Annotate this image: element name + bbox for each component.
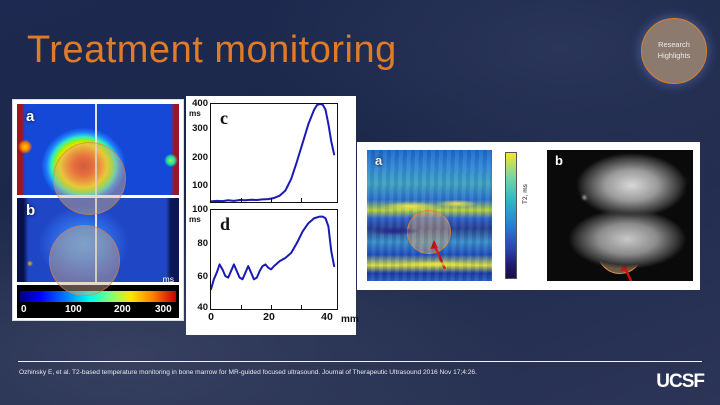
plot-d-x-unit: mm — [341, 314, 359, 325]
plot-d-xtick-0: 0 — [208, 311, 214, 323]
plot-d-ytick-40: 40 — [197, 302, 208, 313]
right-panel-label-a: a — [375, 153, 382, 168]
figure-thermometry-maps: a b ms 0 100 200 300 — [12, 99, 184, 321]
plot-c-ytick-400: 400 — [192, 98, 208, 109]
plot-d-xtick-20: 20 — [263, 311, 275, 323]
plot-c-ytick-200: 200 — [192, 152, 208, 163]
plot-d-xtickmark-2 — [271, 305, 272, 309]
mri-grayscale-panel-b: b — [547, 150, 693, 281]
colorbar-tick-0: 0 — [21, 304, 27, 315]
highlight-circle-a — [53, 142, 126, 215]
t2-vertical-colorbar — [505, 152, 517, 279]
ucsf-logo: UCSF — [656, 371, 704, 393]
plot-d-xtickmark-3 — [301, 305, 302, 309]
page-title: Treatment monitoring — [27, 29, 397, 72]
plot-label-d: d — [220, 214, 230, 235]
colorbar-tick-200: 200 — [114, 304, 131, 315]
slide-canvas: Treatment monitoring Research Highlights… — [0, 0, 720, 405]
plot-d-xtickmark-1 — [241, 305, 242, 309]
highlight-circle-b — [49, 225, 120, 296]
plot-c-xtickmark-1 — [241, 198, 242, 202]
colorbar-tick-100: 100 — [65, 304, 82, 315]
t2-map-panel-a: a — [367, 150, 492, 281]
plot-c-xtickmark-2 — [271, 198, 272, 202]
right-panel-label-b: b — [555, 153, 563, 168]
panel-label-b: b — [26, 202, 35, 219]
badge-line-1: Research — [658, 40, 690, 51]
colorbar-unit-label: ms — [163, 274, 174, 284]
footer-divider — [18, 361, 702, 362]
plot-c-y-unit: ms — [189, 109, 201, 118]
figure-t2-map-and-mri: a T2, ms b — [357, 142, 700, 290]
plot-d-xtick-40: 40 — [321, 311, 333, 323]
plot-d: d 100 80 60 40 ms 0 20 40 mm — [210, 209, 338, 310]
plot-d-y-unit: ms — [189, 215, 201, 224]
highlight-circle-right-a — [407, 210, 451, 254]
plot-c-ytick-300: 300 — [192, 123, 208, 134]
plot-c-curve — [211, 104, 337, 202]
plot-c-ytick-100: 100 — [192, 180, 208, 191]
badge-line-2: Highlights — [658, 51, 690, 62]
t2-colorbar-label: T2, ms — [522, 184, 529, 204]
figure-profile-plots: c 400 300 200 100 ms d 100 80 60 40 ms 0… — [186, 96, 356, 335]
pointer-arrow-b — [619, 260, 641, 281]
plot-d-ytick-100: 100 — [192, 204, 208, 215]
plot-c-xtickmark-3 — [301, 198, 302, 202]
plot-d-ytick-60: 60 — [197, 271, 208, 282]
plot-c: c 400 300 200 100 ms — [210, 103, 338, 203]
pointer-arrow-a — [429, 238, 451, 272]
citation-text: Ozhinsky E, et al. T2-based temperature … — [19, 367, 619, 379]
plot-label-c: c — [220, 108, 228, 129]
panel-label-a: a — [26, 108, 34, 125]
colorbar-tick-300: 300 — [155, 304, 172, 315]
highlight-circle-right-b — [597, 228, 643, 274]
plot-d-ytick-80: 80 — [197, 238, 208, 249]
research-highlights-badge[interactable]: Research Highlights — [641, 18, 707, 84]
